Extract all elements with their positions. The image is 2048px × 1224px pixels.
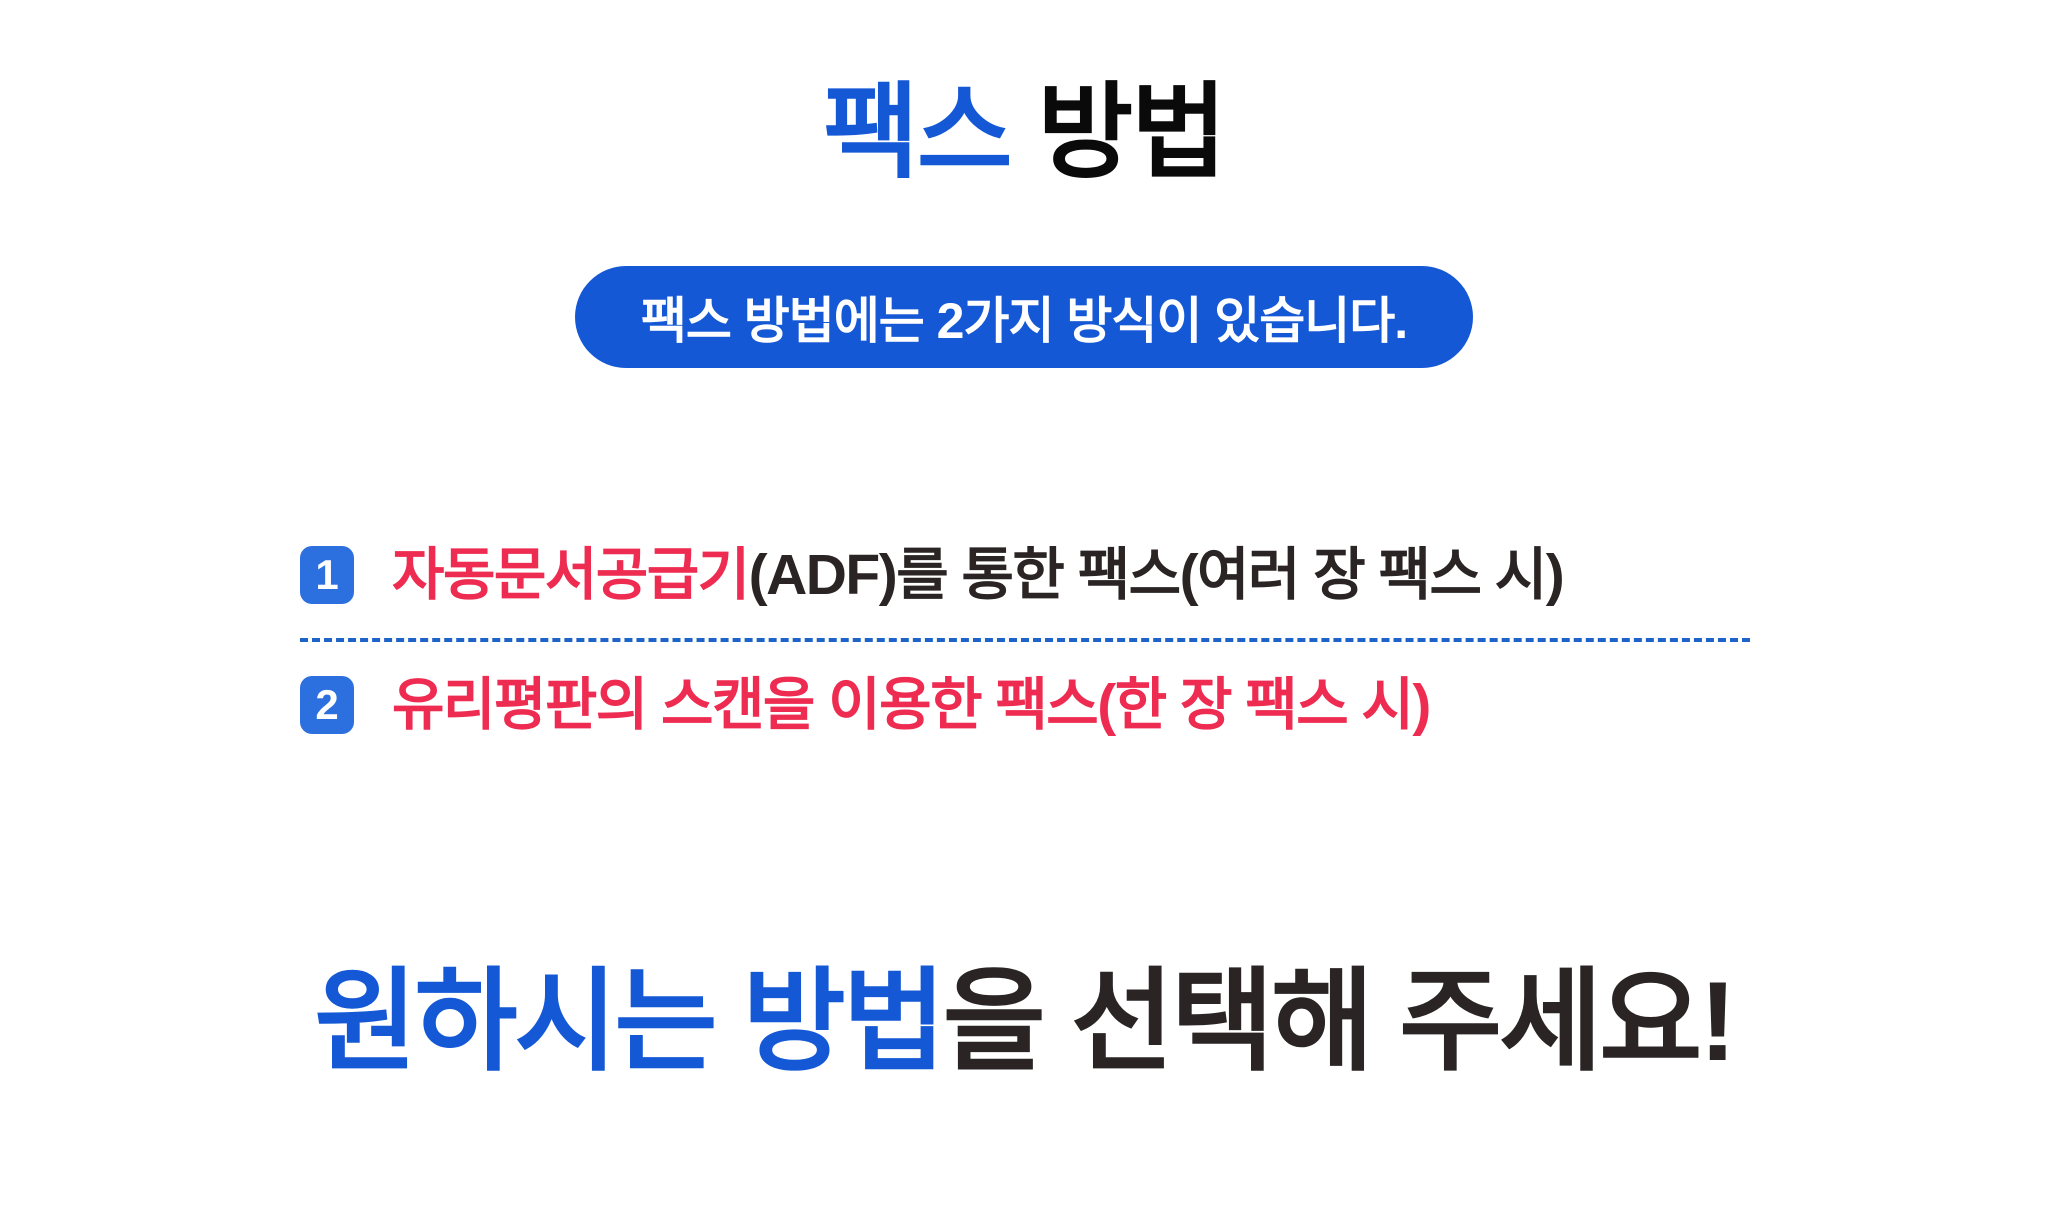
headline-accent: 원하시는 방법 — [314, 959, 942, 1084]
option-label-2: 유리평판의 스캔을 이용한 팩스(한 장 팩스 시) — [392, 677, 1430, 734]
headline-rest: 을 선택해 주세요! — [943, 959, 1734, 1084]
option-number-badge-2: 2 — [300, 676, 354, 734]
options-divider — [300, 638, 1750, 642]
option-label-2-highlight: 유리평판의 스캔을 이용한 팩스(한 장 팩스 시) — [392, 673, 1430, 737]
call-to-action-headline: 원하시는 방법을 선택해 주세요! — [0, 955, 2048, 1089]
option-label-1-rest: (ADF)를 통한 팩스(여러 장 팩스 시) — [749, 543, 1564, 607]
page-title-accent: 팩스 — [823, 75, 1010, 191]
banner-pill: 팩스 방법에는 2가지 방식이 있습니다. — [575, 266, 1473, 368]
banner-container: 팩스 방법에는 2가지 방식이 있습니다. — [0, 266, 2048, 368]
list-item-option-2[interactable]: 2 유리평판의 스캔을 이용한 팩스(한 장 팩스 시) — [300, 665, 1760, 745]
options-list: 1 자동문서공급기(ADF)를 통한 팩스(여러 장 팩스 시) 2 유리평판의… — [300, 535, 1760, 745]
option-label-1: 자동문서공급기(ADF)를 통한 팩스(여러 장 팩스 시) — [392, 547, 1563, 604]
slide-canvas: 팩스 방법 팩스 방법에는 2가지 방식이 있습니다. 1 자동문서공급기(AD… — [0, 0, 2048, 1224]
option-number-badge-1: 1 — [300, 546, 354, 604]
option-label-1-highlight: 자동문서공급기 — [392, 543, 749, 607]
page-title-rest: 방법 — [1011, 75, 1225, 191]
banner-label: 팩스 방법에는 2가지 방식이 있습니다. — [641, 281, 1407, 353]
list-item-option-1[interactable]: 1 자동문서공급기(ADF)를 통한 팩스(여러 장 팩스 시) — [300, 535, 1760, 615]
page-title: 팩스 방법 — [0, 72, 2048, 195]
